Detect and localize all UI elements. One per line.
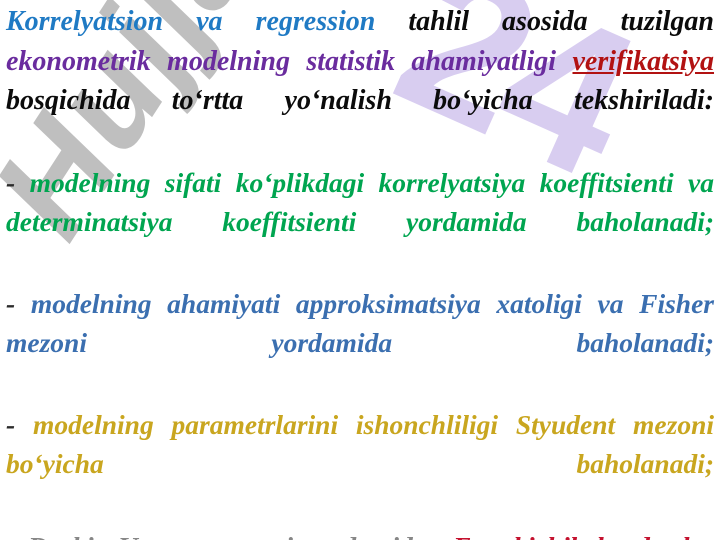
intro-black-phrase-1: tahlil asosida tuzilgan	[408, 6, 714, 37]
bullet-marker-green: -	[6, 167, 15, 198]
bullet-item-gray: - Darbin-Uotson mezoni yordamida «Eng ki…	[6, 527, 714, 540]
bullet-item-blue: - modelning ahamiyati approksimatsiya xa…	[6, 284, 714, 401]
intro-black-phrase-2: bosqichida to‘rtta yo‘nalish bo‘yicha te…	[6, 85, 714, 116]
intro-paragraph: Korrelyatsion va regression tahlil asosi…	[6, 2, 714, 160]
bullet-item-green: - modelning sifati ko‘plikdagi korrelyat…	[6, 163, 714, 280]
slide-canvas: 24 Hujjat Korrelyatsion va regression ta…	[0, 0, 720, 540]
slide-text-body: Korrelyatsion va regression tahlil asosi…	[0, 0, 720, 540]
bullet-marker-gold: -	[6, 409, 15, 440]
bullet-marker-blue: -	[6, 288, 15, 319]
bullet-text-gray-1: Darbin-Uotson mezoni yordamida «	[28, 531, 453, 540]
bullet-text-green: modelning sifati ko‘plikdagi korrelyatsi…	[6, 167, 714, 237]
bullet-text-blue: modelning ahamiyati approksimatsiya xato…	[6, 288, 714, 358]
bullet-item-gold: - modelning parametrlarini ishonchliligi…	[6, 405, 714, 522]
intro-blue-phrase: Korrelyatsion va regression	[6, 6, 375, 37]
bullet-text-gold: modelning parametrlarini ishonchliligi S…	[6, 409, 714, 479]
intro-purple-phrase: ekonometrik modelning statistik ahamiyat…	[6, 46, 556, 77]
intro-verifikatsiya-term: verifikatsiya	[572, 46, 714, 77]
bullet-marker-gray: -	[6, 531, 15, 540]
